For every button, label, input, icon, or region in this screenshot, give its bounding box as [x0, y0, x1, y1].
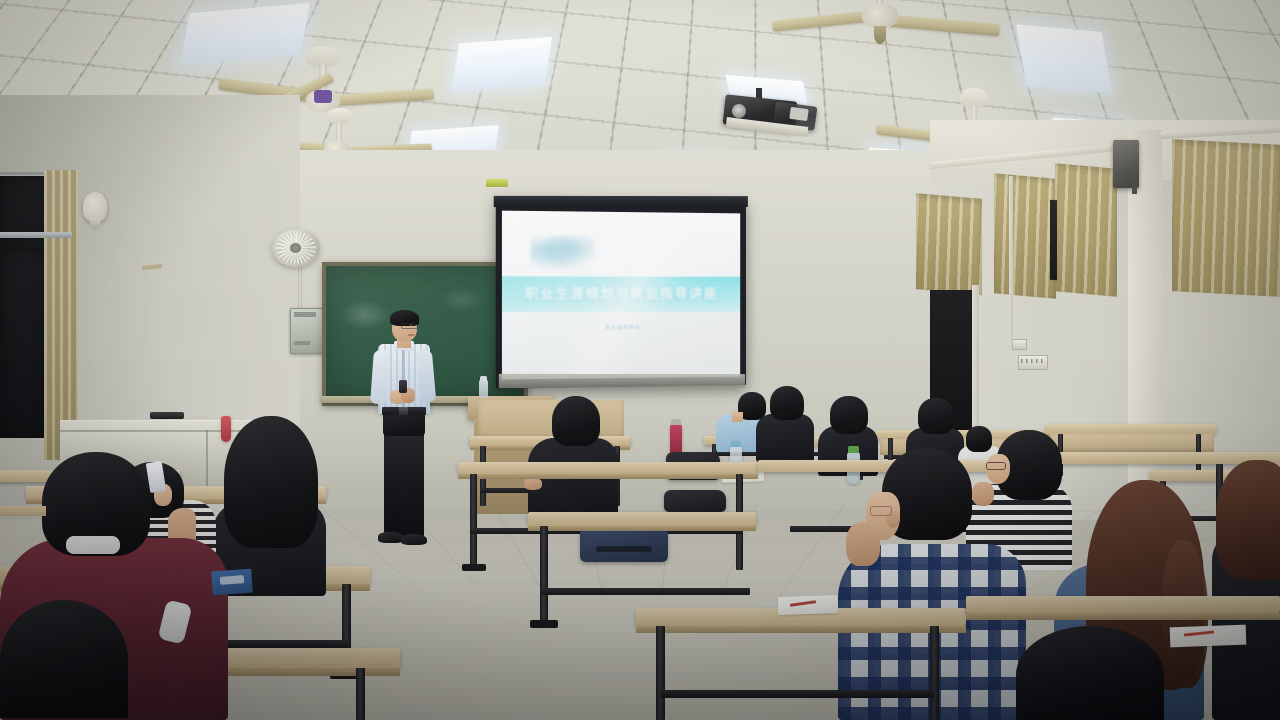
presenter-eye: [409, 324, 413, 326]
lectern-bottle: [479, 380, 488, 398]
conduit-pipe: [1009, 176, 1013, 342]
presenter-mouth: [408, 334, 414, 336]
presenter-arm: [416, 349, 436, 402]
student-hand: [524, 478, 542, 490]
bottle-clear-cap: [731, 441, 741, 447]
desk-foot: [462, 564, 486, 571]
lectern-bottle-cap: [480, 376, 487, 381]
speaker-mount: [90, 218, 100, 230]
desk-edge: [636, 626, 966, 633]
student-hair: [770, 386, 804, 420]
screen-lower-shadow: [499, 374, 745, 388]
left-window-divider: [0, 232, 72, 238]
panel-label: [294, 312, 316, 317]
notebook: [778, 595, 839, 615]
ceiling-fan: [778, 0, 998, 68]
desk-edge: [458, 474, 758, 479]
projected-slide: 职业生涯规划与就业指导讲座 就业指导中心: [502, 211, 740, 380]
desk-foot: [530, 620, 558, 628]
student-hair: [1216, 460, 1280, 580]
desk-row: [458, 462, 758, 474]
projection-screen-housing: [494, 196, 748, 207]
student-center-dark: [528, 396, 620, 518]
wall-fan: [272, 229, 320, 267]
window-curtain: [916, 193, 982, 295]
booklet-highlight: [220, 575, 244, 585]
desk-leg: [656, 626, 665, 720]
left-curtain: [44, 170, 78, 460]
desk-rail: [540, 588, 750, 595]
presenter: [368, 308, 444, 550]
slide-logo: [531, 235, 596, 270]
window-gap: [1050, 200, 1057, 281]
desk-leg: [470, 474, 477, 570]
exit-sign: [486, 179, 508, 187]
wall-speaker: [1113, 140, 1139, 188]
slide-title-text: 职业生涯规划与就业指导讲座: [508, 286, 734, 304]
presentation-clicker: [399, 380, 407, 393]
bottle-red-cap: [671, 419, 681, 425]
notebook: [1170, 625, 1247, 648]
student-front-center: [1016, 626, 1166, 720]
backpack-strap: [596, 546, 652, 552]
bag-black: [664, 490, 726, 512]
presenter-shoe: [401, 534, 427, 545]
counter-item: [150, 412, 184, 419]
student-hand: [846, 522, 880, 566]
student-neck: [732, 412, 743, 422]
student-front-right: [1212, 460, 1280, 720]
bottle-red: [221, 416, 231, 442]
chalk-smudge: [440, 288, 484, 312]
left-window: [0, 248, 48, 438]
door-frame: [972, 285, 979, 443]
desk-leg: [540, 526, 548, 626]
student-hair: [0, 600, 128, 718]
desk-row: [528, 512, 756, 526]
classroom-photo: 职业生涯规划与就业指导讲座 就业指导中心: [0, 0, 1280, 720]
counter-item: [186, 416, 208, 419]
ceiling-projector: [712, 88, 824, 146]
window-curtain: [1055, 163, 1117, 296]
desk-leg: [930, 626, 939, 720]
student-glasses: [870, 506, 892, 516]
ceiling-light: [452, 37, 552, 91]
student-torso: [756, 414, 814, 462]
student-back-dark: [756, 386, 816, 462]
desk-row: [966, 596, 1280, 613]
student-hair: [552, 396, 600, 446]
light-switch-plate[interactable]: [1012, 339, 1027, 350]
slide-subtitle-text: 就业指导中心: [508, 324, 734, 334]
student-collar: [66, 536, 120, 554]
ceiling-light: [1016, 24, 1112, 93]
desk-edge: [528, 526, 756, 531]
presenter-belt-buckle: [399, 407, 408, 415]
chair-back: [0, 506, 46, 516]
desk-edge: [966, 613, 1280, 620]
student-hair: [1016, 626, 1164, 720]
window-curtain: [1172, 139, 1280, 297]
student-hair: [918, 398, 954, 434]
desk-rail: [660, 690, 934, 698]
window-curtain: [994, 173, 1056, 298]
socket-slots: [1021, 359, 1043, 363]
student-front-left: [0, 600, 130, 720]
panel-label: [294, 341, 310, 345]
desk-leg: [356, 668, 365, 720]
student-hair: [830, 396, 868, 434]
speaker-bracket: [1132, 182, 1137, 194]
